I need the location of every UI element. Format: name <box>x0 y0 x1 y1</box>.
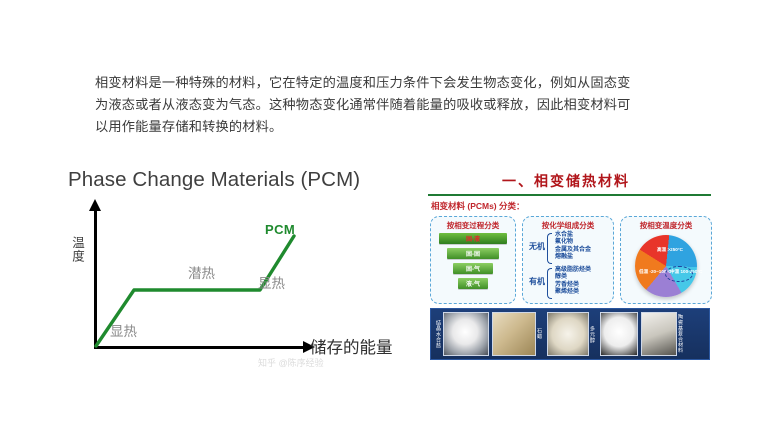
sensible-heat-label-left: 显热 <box>110 320 137 340</box>
organic-item: 醇类 <box>555 274 610 281</box>
sample-cell: 结晶水合盐 <box>435 312 489 356</box>
organic-item: 聚烯烃类 <box>555 289 610 296</box>
column-phase-process-head: 按相变过程分类 <box>431 220 515 231</box>
watermark: 知乎 @陈序经验 <box>258 356 324 369</box>
sample-cell: 陶瓷基复合材料 <box>641 312 685 356</box>
sample-photo <box>600 312 638 356</box>
sample-photo <box>641 312 677 356</box>
branch-inorganic-name: 无机 <box>529 241 545 252</box>
sample-label: 多元醇 <box>589 326 596 343</box>
intro-paragraph: 相变材料是一种特殊的材料，它在特定的温度和压力条件下会发生物态变化，例如从固态变… <box>95 72 670 138</box>
pie-label-high: 高温 >250°C <box>657 247 683 252</box>
funnel-level-2: 固-气 <box>453 263 493 274</box>
sample-photo-strip: 结晶水合盐 石蜡 多元醇 陶瓷基复合材料 <box>430 308 710 360</box>
column-phase-process: 按相变过程分类 固-液 固-固 固-气 液-气 <box>430 216 516 304</box>
brace-icon <box>547 233 552 264</box>
sample-label: 陶瓷基复合材料 <box>677 314 684 353</box>
inorganic-item: 氟化物 <box>555 239 610 246</box>
pcm-curve <box>62 168 407 373</box>
intro-line-2: 为液态或者从液态变为气态。这种物态变化通常伴随着能量的吸收或释放，因此相变材料可 <box>95 94 670 116</box>
title-divider <box>428 194 711 196</box>
inorganic-item: 熔融盐 <box>555 254 610 261</box>
sample-photo <box>492 312 536 356</box>
branch-inorganic: 无机 水合盐 氟化物 金属及其合金 熔融盐 <box>527 232 610 263</box>
slide-title: 一、相变储热材料 <box>502 171 630 191</box>
sensible-heat-label-right: 显热 <box>258 272 285 292</box>
pcm-classification-slide: 一、相变储热材料 相变材料 (PCMs) 分类： 按相变过程分类 固-液 固-固… <box>428 166 724 378</box>
intro-line-3: 以用作能量存储和转换的材料。 <box>95 116 670 138</box>
sample-label: 石蜡 <box>536 328 543 339</box>
brace-icon <box>547 268 552 299</box>
funnel-level-1: 固-固 <box>447 248 499 259</box>
temperature-pie-chart: 高温 >250°C 中温 100-250°C 低温 -20~100°C <box>635 235 697 297</box>
branch-organic-name: 有机 <box>529 276 545 287</box>
sample-photo <box>547 312 589 356</box>
chemical-composition-tree: 无机 水合盐 氟化物 金属及其合金 熔融盐 有机 高级脂肪烃类 醇类 芳香烃类 … <box>527 232 610 302</box>
section-title: 相变材料 (PCMs) 分类： <box>431 200 525 212</box>
column-chemical-composition: 按化学组成分类 无机 水合盐 氟化物 金属及其合金 熔融盐 有机 高级脂肪烃类 … <box>522 216 614 304</box>
phase-process-funnel: 固-液 固-固 固-气 液-气 <box>438 233 508 297</box>
pie-highlight-ring <box>665 266 693 282</box>
sample-cell: 多元醇 <box>547 312 597 356</box>
column-chemical-composition-head: 按化学组成分类 <box>523 220 613 231</box>
sample-label: 结晶水合盐 <box>435 320 442 348</box>
sample-cell <box>600 312 638 356</box>
column-phase-temperature: 按相变温度分类 高温 >250°C 中温 100-250°C 低温 -20~10… <box>620 216 712 304</box>
funnel-level-0: 固-液 <box>439 233 507 244</box>
latent-heat-label: 潜热 <box>188 262 215 282</box>
pcm-series-label: PCM <box>265 222 295 237</box>
sample-cell: 石蜡 <box>492 312 544 356</box>
branch-organic: 有机 高级脂肪烃类 醇类 芳香烃类 聚烯烃类 <box>527 267 610 298</box>
funnel-level-3: 液-气 <box>458 278 488 289</box>
intro-line-1: 相变材料是一种特殊的材料，它在特定的温度和压力条件下会发生物态变化，例如从固态变 <box>95 72 670 94</box>
pcm-chart: Phase Change Materials (PCM) 温度 储存的能量 PC… <box>62 168 407 373</box>
column-phase-temperature-head: 按相变温度分类 <box>621 220 711 231</box>
sample-photo <box>443 312 489 356</box>
